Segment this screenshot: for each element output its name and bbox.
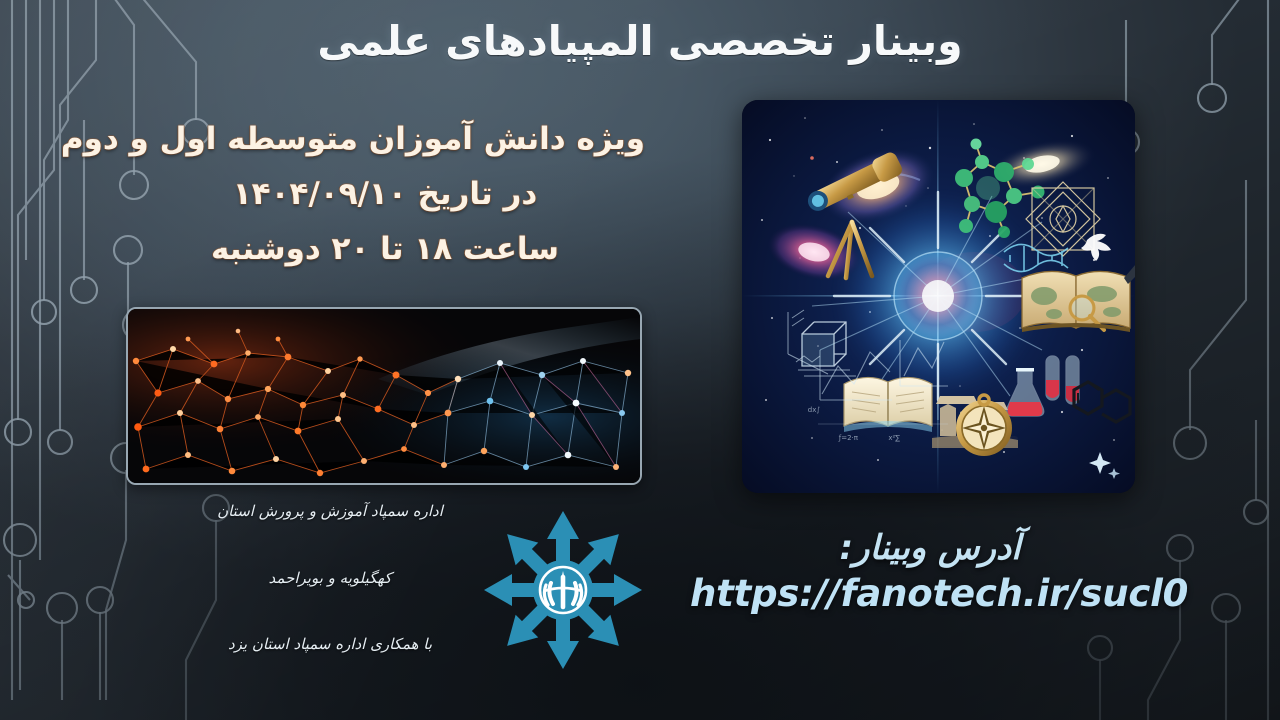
webinar-url-link[interactable]: https://fanotech.ir/sucl0 — [690, 572, 1170, 615]
poster-title: وبینار تخصصی المپیادهای علمی — [0, 17, 1280, 65]
credit-line-collaboration: با همکاری اداره سمپاد استان یزد — [185, 633, 475, 656]
science-collage-image: ƒ=2·π ∑x² ∫dx — [742, 100, 1135, 493]
iran-emblem-icon — [540, 567, 586, 613]
subtitle-line-date: در تاریخ ۱۴۰۴/۰۹/۱۰ — [125, 167, 645, 222]
webinar-poster: وبینار تخصصی المپیادهای علمی ویژه دانش آ… — [0, 0, 1280, 720]
webinar-address-label: آدرس وبینار: — [690, 528, 1170, 568]
credit-line-office: اداره سمپاد آموزش و پرورش استان — [185, 500, 475, 523]
credit-line-province: کهگیلویه و بویراحمد — [185, 567, 475, 590]
sampad-logo — [478, 505, 648, 675]
subtitle-line-audience: ویژه دانش آموزان متوسطه اول و دوم — [125, 112, 645, 167]
network-mesh-image — [126, 307, 642, 485]
subtitle-block: ویژه دانش آموزان متوسطه اول و دوم در تار… — [125, 112, 645, 278]
subtitle-line-time: ساعت ۱۸ تا ۲۰ دوشنبه — [125, 222, 645, 277]
webinar-address-block: آدرس وبینار: https://fanotech.ir/sucl0 — [690, 528, 1170, 615]
organizer-credits: اداره سمپاد آموزش و پرورش استان کهگیلویه… — [185, 500, 475, 656]
